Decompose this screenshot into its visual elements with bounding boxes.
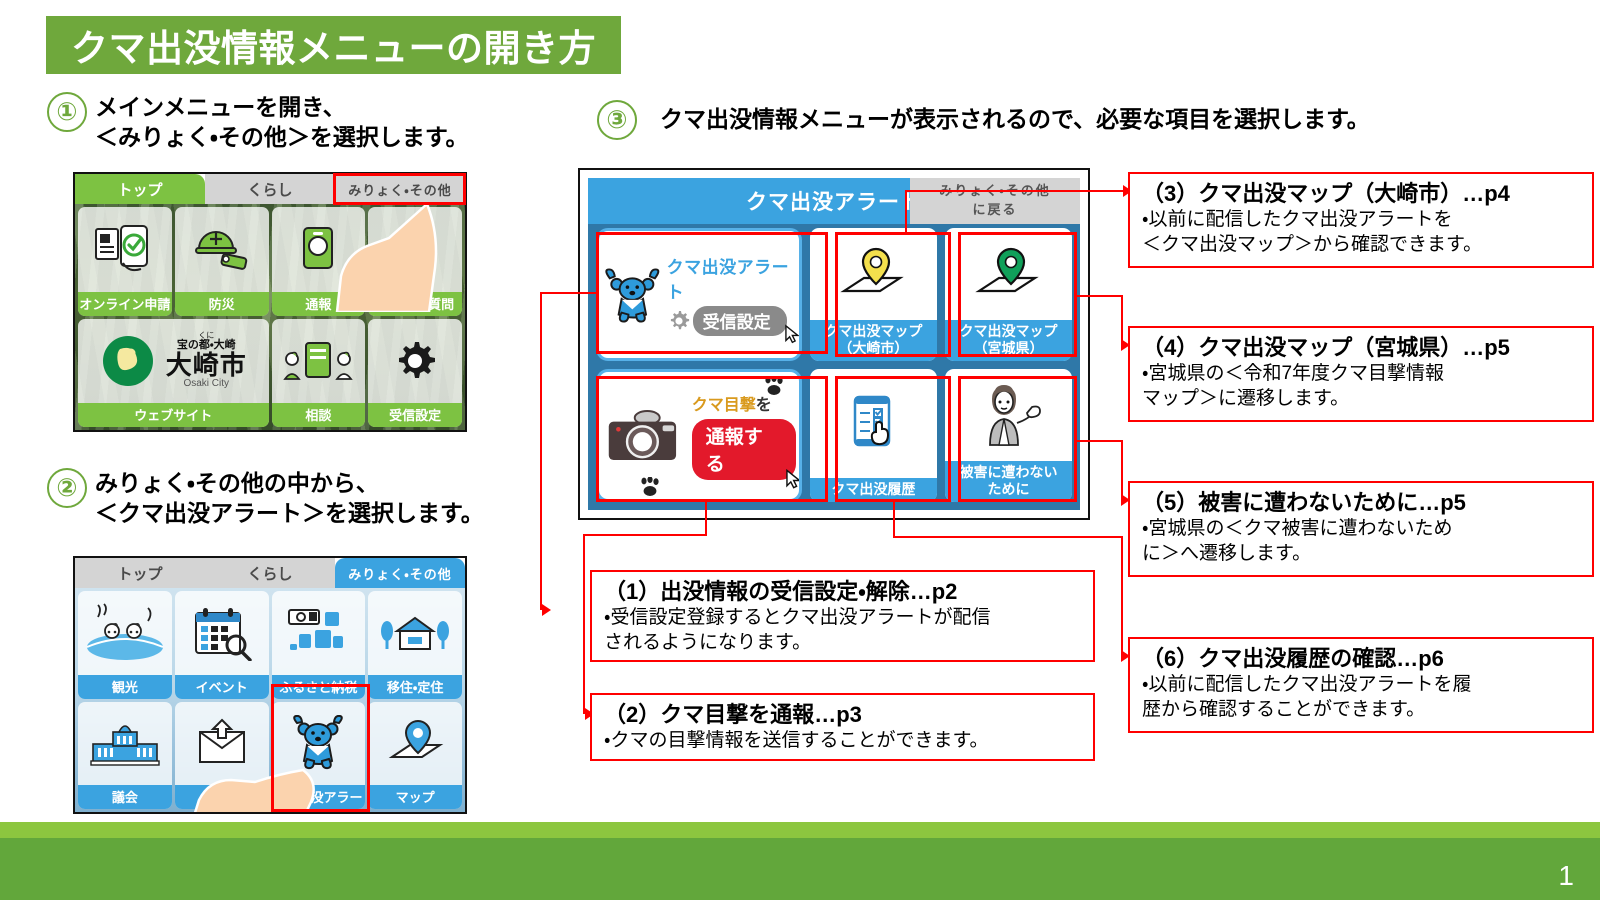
connector-line (705, 502, 707, 536)
callout-heading: （4）クマ出没マップ（宮城県）…p5 (1142, 335, 1582, 360)
card-map-miyagi[interactable]: クマ出没マップ （宮城県） (945, 228, 1072, 361)
connector-line (540, 292, 598, 294)
panel-title: クマ出没アラート (746, 186, 922, 216)
gear-icon (368, 319, 462, 404)
tile-receive-setting[interactable]: 受信設定 (368, 319, 462, 428)
step-number-1: ① (47, 92, 87, 132)
connector-line (583, 534, 707, 536)
panel-header: クマ出没アラート みりょく・その他 に戻る (588, 178, 1080, 224)
card-title-bear-alert: クマ出没アラート (667, 253, 796, 303)
logo-line2: 大崎市 (166, 352, 247, 379)
phone-checklist-icon (810, 369, 937, 478)
card-receive-setting[interactable]: クマ出没アラート 受信設定 (596, 228, 802, 361)
card-map-osaki[interactable]: クマ出没マップ （大崎市） (810, 228, 937, 361)
phone-tabbar-miryoku: トップ くらし みりょく・その他 (75, 558, 465, 588)
callout-heading: （3）クマ出没マップ（大崎市）…p4 (1142, 181, 1582, 206)
back-button-line2: に戻る (972, 201, 1017, 220)
tile-label: 受信設定 (368, 403, 462, 427)
phone-tabbar-top: トップ くらし みりょく・その他 (75, 174, 465, 204)
tile-label: 意見・ (175, 785, 269, 809)
tile-label: 移住・定住 (368, 675, 462, 699)
connector-line (1121, 295, 1123, 345)
badge-report: 通報する (692, 419, 796, 480)
bear-icon (602, 262, 663, 328)
card-title-sighting: クマ目撃 (692, 397, 756, 414)
faq-person-icon (368, 207, 462, 292)
tile-label: よくある質問 (368, 292, 462, 316)
callout-6: （6）クマ出没履歴の確認…p6 ・以前に配信したクマ出没アラートを履 歴から確認… (1128, 637, 1594, 733)
card-title-sighting-suffix: を (756, 397, 772, 414)
callout-heading: （2）クマ目撃を通報…p3 (604, 702, 1083, 727)
tile-label: クマ出没アラート (272, 785, 366, 809)
callout-4: （4）クマ出没マップ（宮城県）…p5 ・宮城県の＜令和7年度クマ目撃情報 マップ… (1128, 326, 1594, 422)
tab-top[interactable]: トップ (75, 174, 205, 204)
tile-consultation[interactable]: 相談 (272, 319, 366, 428)
report-phone-icon (272, 207, 366, 292)
footer-light-band (0, 822, 1600, 838)
tile-opinion[interactable]: 意見・ (175, 702, 269, 810)
card-label-map-osaki: クマ出没マップ （大崎市） (810, 320, 937, 361)
cursor-icon (785, 324, 802, 346)
callout-1: （1）出没情報の受信設定・解除…p2 ・受信設定登録するとクマ出没アラートが配信… (590, 570, 1095, 662)
tile-label: 議会 (78, 785, 172, 809)
tab-kurashi[interactable]: くらし (205, 558, 335, 588)
assembly-building-icon (78, 702, 172, 786)
connector-line (1121, 536, 1123, 656)
callout-2: （2）クマ目撃を通報…p3 ・クマの目撃情報を送信することができます。 (590, 693, 1095, 761)
map-pin-yellow-icon (810, 228, 937, 320)
tile-online-application[interactable]: オンライン申請 (78, 207, 172, 316)
online-application-icon (78, 207, 172, 292)
tile-label: 観光 (78, 675, 172, 699)
phone-screenshot-miryoku-menu: トップ くらし みりょく・その他 観光 (73, 556, 467, 814)
callout-body: ・宮城県の＜クマ被害に遭わないため に＞へ遷移します。 (1142, 517, 1582, 566)
connector-line (1077, 440, 1123, 442)
phone-screenshot-top-menu: トップ くらし みりょく・その他 オンライン申請 (73, 172, 467, 432)
tile-label: 防災 (175, 292, 269, 316)
card-label-prevention: 被害に遭わない ために (945, 461, 1072, 502)
onsen-icon (78, 591, 172, 675)
callout-body: ・クマの目撃情報を送信することができます。 (604, 729, 1083, 754)
callout-5: （5）被害に遭わないために…p5 ・宮城県の＜クマ被害に遭わないため に＞へ遷移… (1128, 481, 1594, 577)
paw-print-icon (639, 477, 663, 497)
logo-line3: Osaki City (166, 379, 247, 390)
card-history[interactable]: クマ出没履歴 (810, 369, 937, 502)
tile-label: オンライン申請 (78, 292, 172, 316)
tile-website[interactable]: くに 宝の都・大崎 大崎市 Osaki City ウェブサイト (78, 319, 269, 428)
tile-hometown-tax[interactable]: ふるさと納税 (272, 591, 366, 699)
calendar-search-icon (175, 591, 269, 675)
tile-assembly[interactable]: 議会 (78, 702, 172, 810)
page-title: クマ出没情報メニューの開き方 (71, 18, 596, 72)
tile-disaster-prevention[interactable]: 防災 (175, 207, 269, 316)
page-title-banner: クマ出没情報メニューの開き方 (46, 16, 621, 74)
tile-label: ふるさと納税 (272, 675, 366, 699)
tile-label: ウェブサイト (78, 403, 269, 427)
connector-line (1077, 295, 1123, 297)
tile-label: マップ (368, 785, 462, 809)
gear-icon (667, 309, 691, 333)
callout-3: （3）クマ出没マップ（大崎市）…p4 ・以前に配信したクマ出没アラートを ＜クマ… (1128, 172, 1594, 268)
consultation-icon (272, 319, 366, 404)
tile-migration[interactable]: 移住・定住 (368, 591, 462, 699)
card-label-map-miyagi: クマ出没マップ （宮城県） (945, 320, 1072, 361)
step-text-2: みりょく・その他の中から、 ＜クマ出没アラート＞を選択します。 (95, 468, 484, 529)
connector-line (540, 292, 542, 610)
tile-map[interactable]: マップ (368, 702, 462, 810)
connector-line (893, 502, 895, 538)
footer-dark-band: 1 (0, 838, 1600, 900)
paw-print-icon (763, 376, 787, 396)
tab-kurashi[interactable]: くらし (205, 174, 335, 204)
connector-line (905, 190, 907, 234)
camera-icon (603, 405, 686, 467)
step-number-2: ② (47, 468, 87, 508)
map-pin-green-icon (945, 228, 1072, 320)
hometown-tax-icon (272, 591, 366, 675)
back-to-miryoku-button[interactable]: みりょく・その他 に戻る (910, 178, 1080, 224)
house-icon (368, 591, 462, 675)
tab-miryoku-sonota[interactable]: みりょく・その他 (335, 174, 465, 204)
card-prevention[interactable]: 被害に遭わない ために (945, 369, 1072, 502)
connector-line (893, 536, 1123, 538)
tile-label: 通報 (272, 292, 366, 316)
callout-heading: （5）被害に遭わないために…p5 (1142, 490, 1582, 515)
callout-body: ・以前に配信したクマ出没アラートを履 歴から確認することができます。 (1142, 673, 1582, 722)
callout-body: ・以前に配信したクマ出没アラートを ＜クマ出没マップ＞から確認できます。 (1142, 208, 1582, 257)
bear-alert-menu-panel: クマ出没アラート みりょく・その他 に戻る (578, 168, 1090, 520)
callout-body: ・受信設定登録するとクマ出没アラートが配信 されるようになります。 (604, 606, 1083, 655)
tile-report[interactable]: 通報 (272, 207, 366, 316)
callout-heading: （1）出没情報の受信設定・解除…p2 (604, 579, 1083, 604)
tile-label: 相談 (272, 403, 366, 427)
bear-icon (272, 702, 366, 786)
badge-receive-setting: 受信設定 (693, 306, 787, 336)
card-label-history: クマ出没履歴 (810, 478, 937, 502)
callout-heading: （6）クマ出没履歴の確認…p6 (1142, 646, 1582, 671)
step-text-3: クマ出没情報メニューが表示されるので、必要な項目を選択します。 (660, 104, 1370, 134)
tile-faq[interactable]: よくある質問 (368, 207, 462, 316)
map-pin-icon (368, 702, 462, 786)
disaster-helmet-icon (175, 207, 269, 292)
panel-inner-frame: クマ出没アラート みりょく・その他 に戻る (588, 178, 1080, 510)
panel-card-grid: クマ出没アラート 受信設定 (596, 228, 1072, 502)
connector-line (1121, 440, 1123, 500)
callout-body: ・宮城県の＜令和7年度クマ目撃情報 マップ＞に遷移します。 (1142, 362, 1582, 411)
tile-sightseeing[interactable]: 観光 (78, 591, 172, 699)
tile-event[interactable]: イベント (175, 591, 269, 699)
connector-arrow (542, 604, 551, 616)
tile-label: イベント (175, 675, 269, 699)
step-text-1: メインメニューを開き、 ＜みりょく・その他＞を選択します。 (95, 92, 469, 153)
connector-line (905, 190, 1123, 192)
page-number: 1 (1558, 860, 1574, 892)
tab-top[interactable]: トップ (75, 558, 205, 588)
cursor-icon (786, 469, 802, 491)
tile-bear-alert[interactable]: クマ出没アラート (272, 702, 366, 810)
connector-line (583, 534, 585, 714)
tab-miryoku-sonota[interactable]: みりょく・その他 (335, 558, 465, 588)
card-report-sighting[interactable]: クマ目撃を 通報する (596, 369, 802, 502)
woman-guide-icon (945, 369, 1072, 461)
osaki-city-logo-icon: くに 宝の都・大崎 大崎市 Osaki City (78, 319, 269, 404)
step-number-3: ③ (597, 100, 637, 140)
mail-send-icon (175, 702, 269, 786)
